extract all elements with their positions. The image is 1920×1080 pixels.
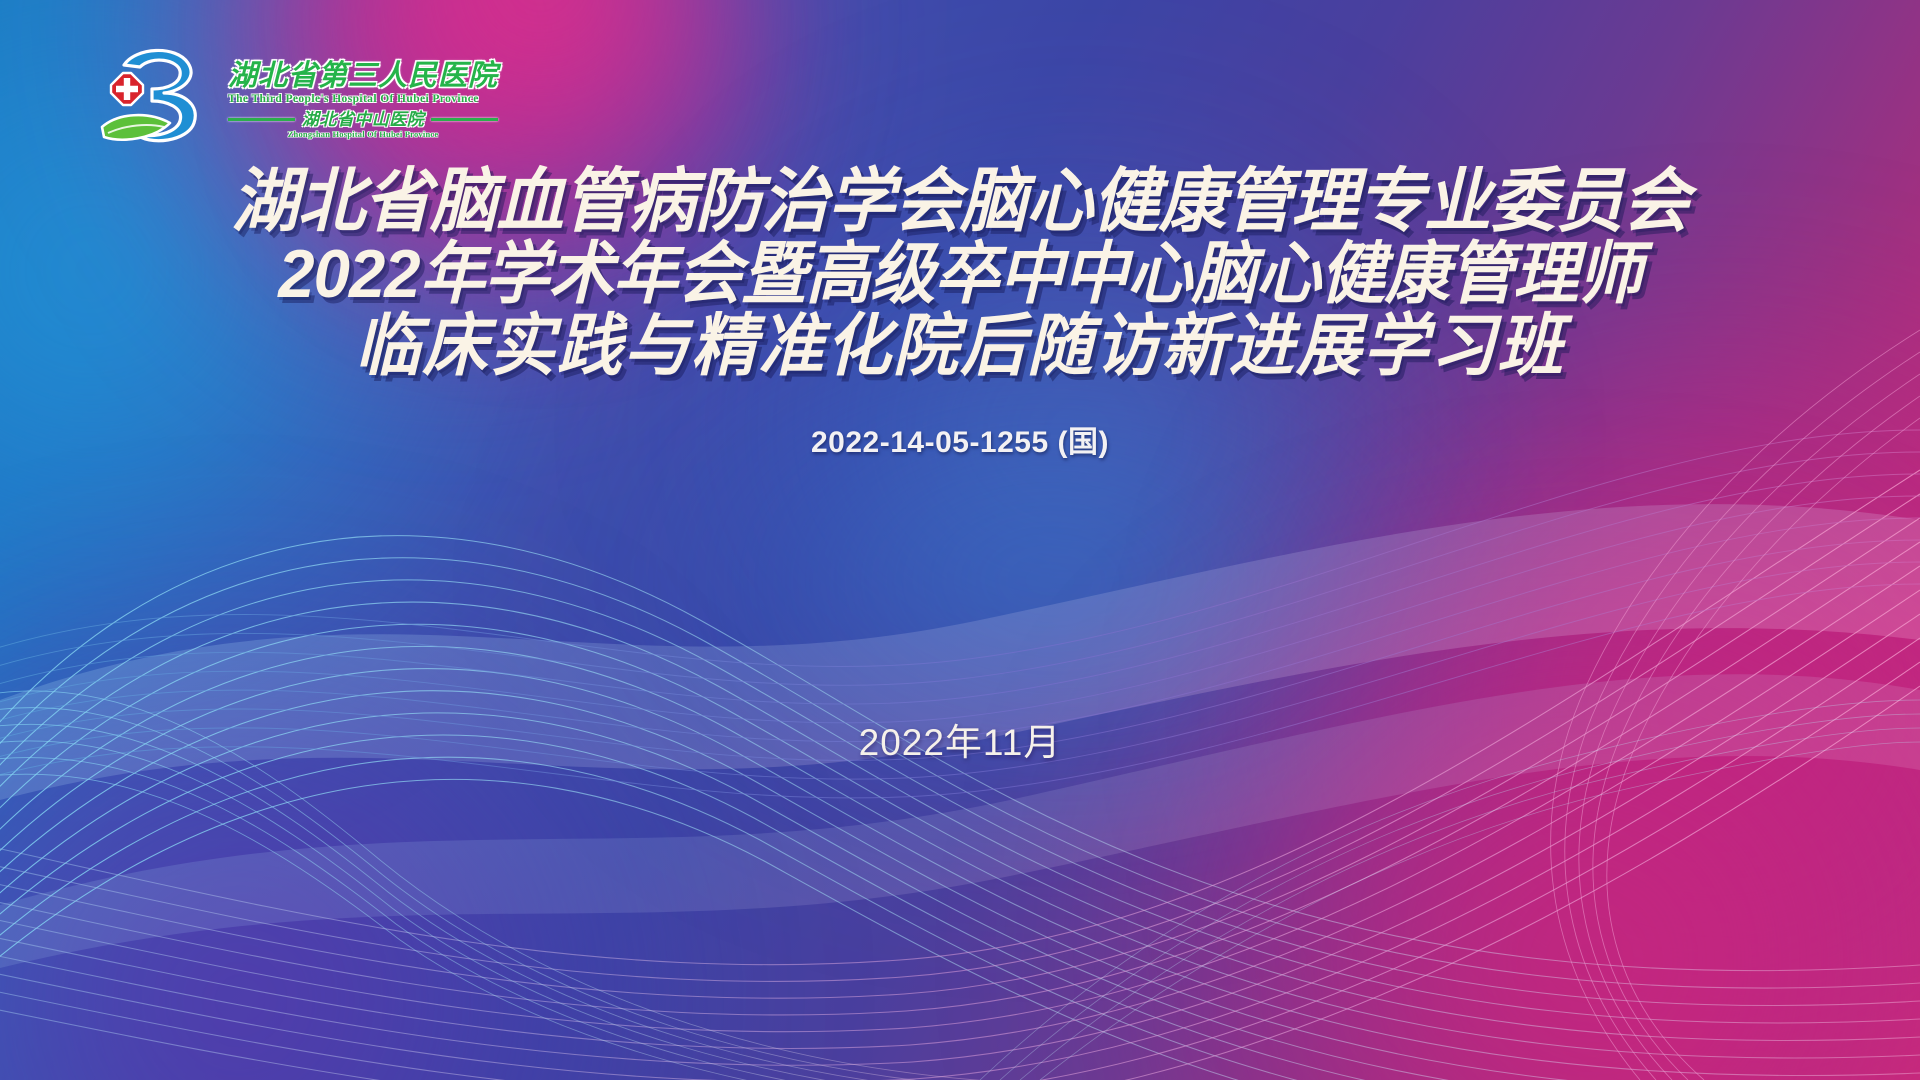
divider-right: [431, 118, 498, 121]
hospital-alt-name-row: 湖北省中山医院: [228, 111, 498, 128]
event-date: 2022年11月: [0, 712, 1920, 766]
conference-banner: 湖北省第三人民医院 The Third People's Hospital Of…: [0, 0, 1920, 1080]
approval-code: 2022-14-05-1255 (国): [0, 417, 1920, 461]
event-title-line-3: 临床实践与精准化院后随访新进展学习班: [38, 312, 1881, 380]
hospital-name-cn: 湖北省第三人民医院: [228, 62, 498, 91]
hospital-name-en: The Third People's Hospital Of Hubei Pro…: [228, 94, 479, 106]
event-title-line-2: 2022年学术年会暨高级卒中中心脑心健康管理师: [38, 240, 1881, 308]
event-title-line-1: 湖北省脑血管病防治学会脑心健康管理专业委员会: [38, 166, 1881, 236]
divider-left: [228, 118, 295, 121]
hospital-alt-name-en: Zhongshan Hospital Of Hubei Province: [288, 130, 439, 139]
hospital-emblem-icon: [96, 43, 214, 153]
hospital-logo-text: 湖北省第三人民医院 The Third People's Hospital Of…: [228, 58, 498, 139]
hospital-alt-name-cn: 湖北省中山医院: [302, 111, 425, 128]
hospital-logo: 湖北省第三人民医院 The Third People's Hospital Of…: [96, 38, 566, 158]
event-title: 湖北省脑血管病防治学会脑心健康管理专业委员会 2022年学术年会暨高级卒中中心脑…: [0, 166, 1920, 380]
